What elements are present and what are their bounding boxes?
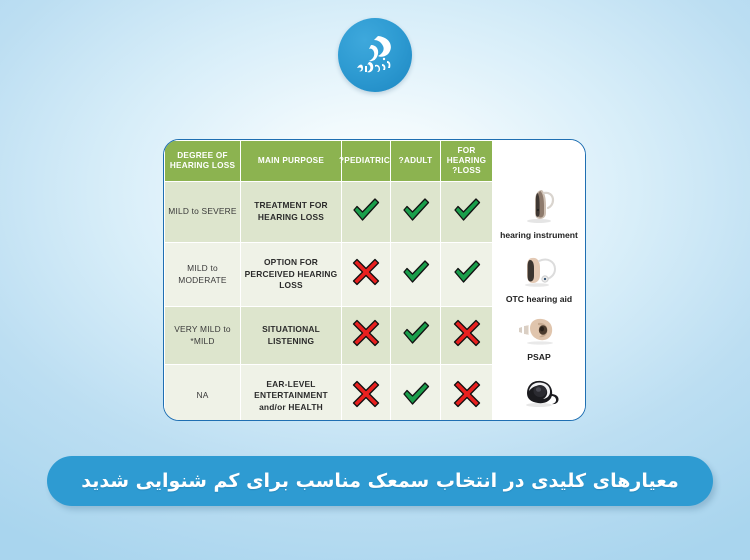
cell-degree: VERY MILD to MILD* <box>165 307 241 365</box>
column-header-pediatric: PEDIATRIC? <box>342 141 391 182</box>
column-header-main-purpose: MAIN PURPOSE <box>241 141 342 182</box>
cross-icon <box>453 380 481 408</box>
table-header-row: FOR HEARING LOSS? ADULT? PEDIATRIC? MAIN… <box>165 141 586 182</box>
cell-pediatric <box>342 365 391 422</box>
device-label: hearing instrument <box>500 230 578 240</box>
earbud-icon <box>515 374 563 415</box>
brand-logo <box>0 18 750 92</box>
banner-title: معیارهای کلیدی در انتخاب سمعک مناسب برای… <box>81 470 678 492</box>
table-row: EAR-LEVEL ENTERTAINMENT and/or HEALTH NA <box>165 365 586 422</box>
cell-hearing-loss <box>441 307 493 365</box>
cell-pediatric <box>342 307 391 365</box>
cell-hearing-loss <box>441 182 493 243</box>
table-body: hearing instrument <box>165 182 586 422</box>
check-icon <box>452 259 482 285</box>
cell-hearing-loss <box>441 243 493 307</box>
check-icon <box>401 197 431 223</box>
cell-adult <box>391 307 441 365</box>
cell-main-purpose: SITUATIONAL LISTENING <box>241 307 342 365</box>
cell-hearing-loss <box>441 365 493 422</box>
check-icon <box>401 381 431 407</box>
cell-adult <box>391 243 441 307</box>
cross-icon <box>453 319 481 347</box>
bte-hearing-aid-icon <box>519 186 559 229</box>
cell-adult <box>391 182 441 243</box>
avaye-shariati-logo-icon <box>338 18 412 92</box>
hearing-device-comparison-table: FOR HEARING LOSS? ADULT? PEDIATRIC? MAIN… <box>164 140 586 421</box>
cell-degree: MILD to MODERATE <box>165 243 241 307</box>
cross-icon <box>352 258 380 286</box>
check-icon <box>401 320 431 346</box>
check-icon <box>351 197 381 223</box>
comparison-card: FOR HEARING LOSS? ADULT? PEDIATRIC? MAIN… <box>163 139 586 421</box>
table-row: OTC hearing aid <box>165 243 586 307</box>
device-cell: OTC hearing aid <box>493 243 586 307</box>
column-header-device <box>493 141 586 182</box>
otc-hearing-aid-icon <box>515 248 563 293</box>
check-icon <box>401 259 431 285</box>
column-header-adult: ADULT? <box>391 141 441 182</box>
cell-degree: MILD to SEVERE <box>165 182 241 243</box>
device-cell: PSAP <box>493 307 586 365</box>
title-banner: معیارهای کلیدی در انتخاب سمعک مناسب برای… <box>47 456 713 506</box>
column-header-degree-of-hearing-loss: DEGREE OF HEARING LOSS <box>165 141 241 182</box>
cell-main-purpose: TREATMENT FOR HEARING LOSS <box>241 182 342 243</box>
table-header: FOR HEARING LOSS? ADULT? PEDIATRIC? MAIN… <box>165 141 586 182</box>
cross-icon <box>352 319 380 347</box>
poster-canvas: FOR HEARING LOSS? ADULT? PEDIATRIC? MAIN… <box>0 0 750 560</box>
cross-icon <box>352 380 380 408</box>
column-header-hearing-loss: FOR HEARING LOSS? <box>441 141 493 182</box>
cell-main-purpose: EAR-LEVEL ENTERTAINMENT and/or HEALTH <box>241 365 342 422</box>
device-label: OTC hearing aid <box>506 294 572 304</box>
device-cell <box>493 365 586 422</box>
psap-icon <box>516 314 562 351</box>
table-row: PSAP <box>165 307 586 365</box>
cell-main-purpose: OPTION FOR PERCEIVED HEARING LOSS <box>241 243 342 307</box>
cell-degree: NA <box>165 365 241 422</box>
check-icon <box>452 197 482 223</box>
cell-pediatric <box>342 182 391 243</box>
cell-adult <box>391 365 441 422</box>
device-label: PSAP <box>527 352 550 362</box>
device-cell: hearing instrument <box>493 182 586 243</box>
table-row: hearing instrument <box>165 182 586 243</box>
cell-pediatric <box>342 243 391 307</box>
